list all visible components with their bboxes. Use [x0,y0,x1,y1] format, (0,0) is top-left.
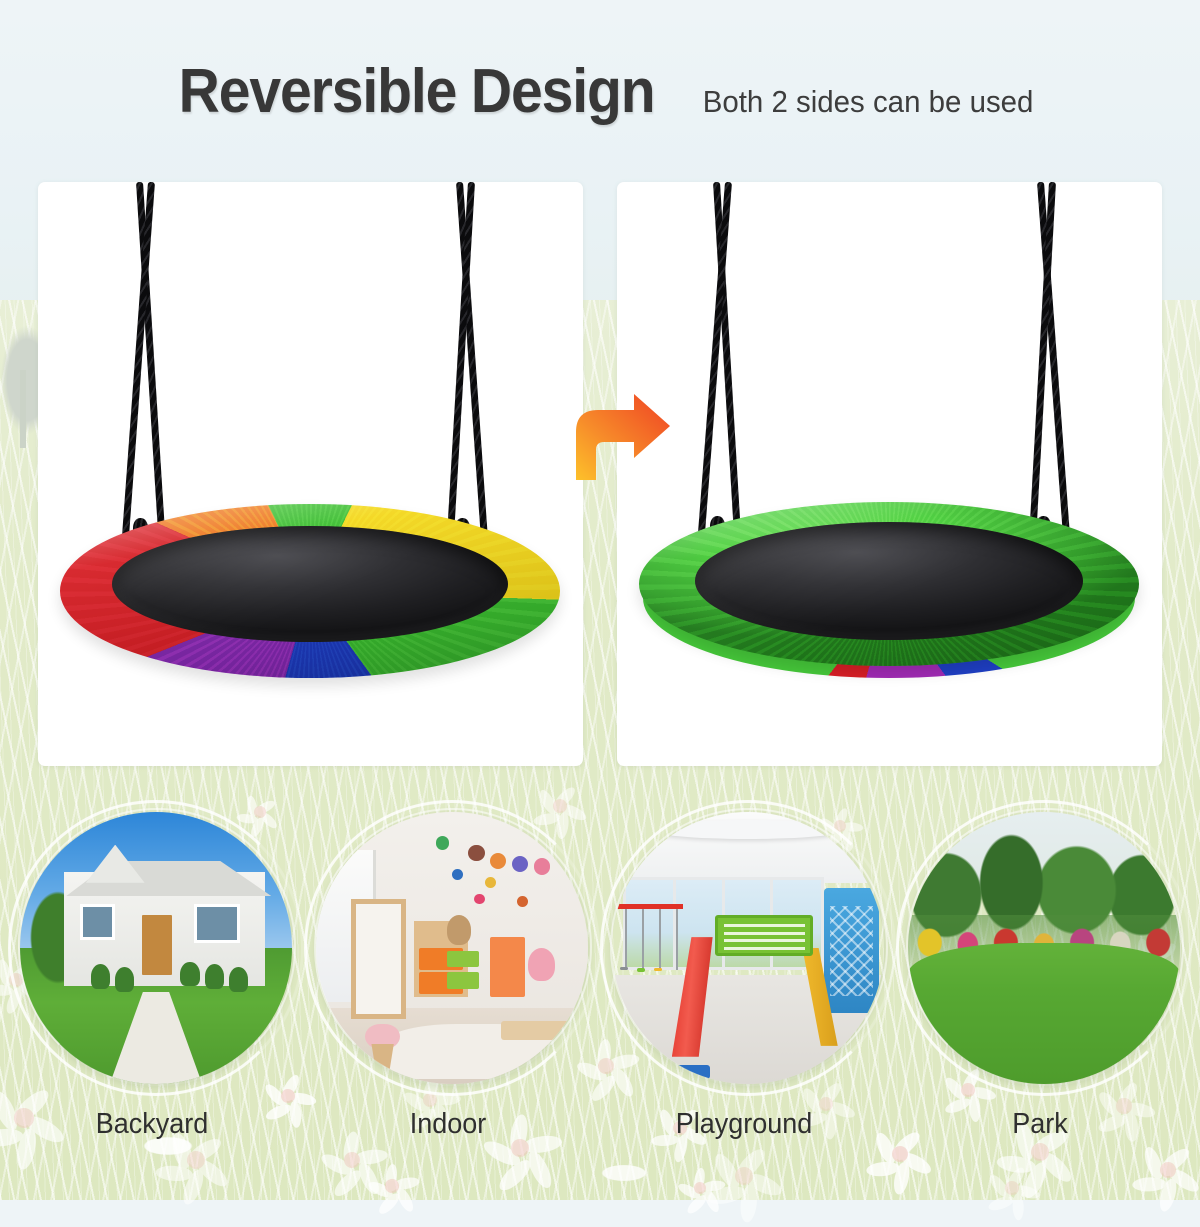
reverse-arrow [566,392,674,484]
page-title: Reversible Design [179,56,655,127]
seat-sheen [112,526,508,642]
park-photo [908,812,1180,1084]
usage-scenes-strip: Backyard [0,806,1200,1200]
usage-scene-playground: Playground [594,806,894,1200]
usage-scene-backyard: Backyard [2,806,302,1200]
usage-scene-indoor: Indoor [298,806,598,1200]
scene-label-park: Park [901,1108,1180,1141]
seat-fabric [695,522,1083,640]
seat-fabric [112,526,508,642]
swing-reverse-view-card [617,182,1162,766]
scene-label-playground: Playground [605,1108,884,1141]
scene-label-indoor: Indoor [309,1108,588,1141]
playground-photo [612,812,884,1084]
house-photo [20,812,292,1084]
scene-label-backyard: Backyard [13,1108,292,1141]
usage-scene-park: Park [890,806,1190,1200]
seat-sheen [695,522,1083,640]
swing-front-view-card [38,182,583,766]
page-subtitle: Both 2 sides can be used [702,84,1033,120]
swing-seat-green [639,502,1139,678]
page-header: Reversible Design Both 2 sides can be us… [0,56,1200,142]
playroom-photo [316,812,588,1084]
swing-seat-multicolor [60,504,560,678]
